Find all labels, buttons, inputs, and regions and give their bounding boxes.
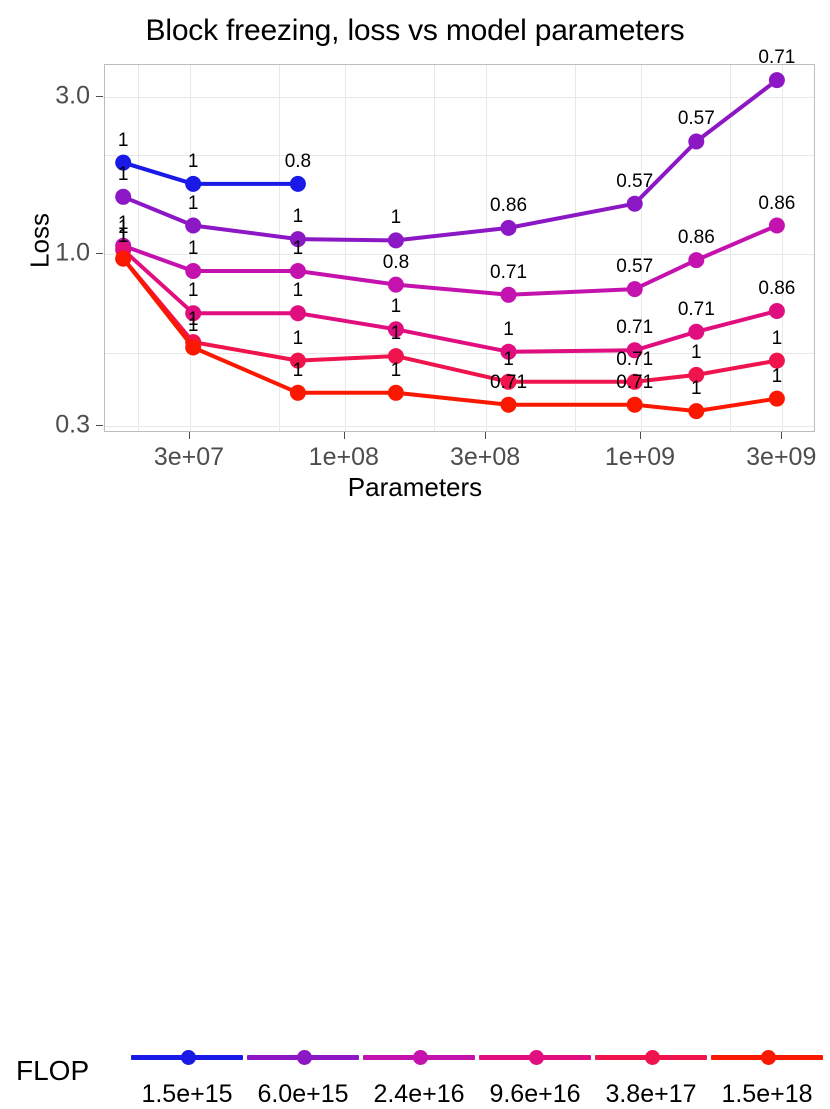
legend-key-1[interactable] — [131, 1046, 243, 1070]
data-point-label: 1 — [503, 349, 514, 371]
legend-point-marker — [529, 1050, 544, 1065]
data-point-label: 0.57 — [616, 171, 653, 193]
y-tick-mark — [96, 96, 103, 97]
data-point-label: 0.71 — [758, 47, 795, 69]
legend-point-marker — [645, 1050, 660, 1065]
data-point-label: 0.86 — [758, 193, 795, 215]
data-point-label: 1 — [391, 296, 402, 318]
y-tick-mark — [96, 253, 103, 254]
x-tick-mark — [781, 432, 782, 439]
gridline-horizontal-minor — [105, 155, 814, 156]
data-point-label: 1 — [691, 378, 702, 400]
data-point-label: 1 — [188, 193, 199, 215]
x-tick-label: 3e+09 — [706, 443, 830, 472]
x-tick-label: 3e+08 — [410, 443, 560, 472]
data-point-label: 0.71 — [490, 372, 527, 394]
gridline-vertical-minor — [730, 65, 731, 431]
legend: FLOP 1.5e+156.0e+152.4e+169.6e+163.8e+17… — [0, 515, 830, 615]
data-point-label: 1 — [118, 130, 129, 152]
x-tick-label: 1e+09 — [565, 443, 715, 472]
x-axis-title: Parameters — [0, 472, 830, 503]
data-point-label: 1 — [691, 342, 702, 364]
data-point-label: 1 — [391, 360, 402, 382]
legend-point-marker — [761, 1050, 776, 1065]
data-point-label: 0.57 — [616, 256, 653, 278]
data-point-label: 0.71 — [616, 372, 653, 394]
legend-key-4[interactable] — [479, 1046, 591, 1070]
gridline-vertical — [486, 65, 487, 431]
gridline-vertical-minor — [138, 65, 139, 431]
data-point-label: 1 — [293, 328, 304, 350]
data-point-label: 1 — [772, 366, 783, 388]
x-tick-mark — [640, 432, 641, 439]
data-point-label: 0.71 — [616, 349, 653, 371]
data-point-label: 0.86 — [678, 227, 715, 249]
legend-key-2[interactable] — [247, 1046, 359, 1070]
data-point-label: 1 — [293, 280, 304, 302]
data-point-label: 1 — [391, 323, 402, 345]
gridline-horizontal — [105, 254, 814, 255]
data-point-label: 1 — [188, 151, 199, 173]
x-tick-label: 3e+07 — [114, 443, 264, 472]
legend-key-5[interactable] — [595, 1046, 707, 1070]
gridline-horizontal-minor — [105, 353, 814, 354]
x-tick-mark — [189, 432, 190, 439]
gridline-vertical — [782, 65, 783, 431]
data-point-label: 1 — [118, 226, 129, 248]
data-point-label: 0.8 — [285, 151, 311, 173]
data-point-label: 1 — [118, 164, 129, 186]
y-tick-mark — [96, 425, 103, 426]
chart-title: Block freezing, loss vs model parameters — [0, 14, 830, 48]
data-point-label: 1 — [293, 238, 304, 260]
data-point-label: 0.57 — [678, 108, 715, 130]
x-tick-label: 1e+08 — [269, 443, 419, 472]
data-point-label: 1 — [772, 328, 783, 350]
data-point-label: 1 — [188, 238, 199, 260]
x-tick-mark — [344, 432, 345, 439]
legend-point-marker — [297, 1050, 312, 1065]
y-tick-label: 0.3 — [6, 410, 90, 439]
legend-key-6[interactable] — [711, 1046, 823, 1070]
gridline-vertical — [345, 65, 346, 431]
data-point-label: 1 — [188, 280, 199, 302]
data-point-label: 1 — [391, 207, 402, 229]
data-point-label: 0.86 — [758, 278, 795, 300]
x-tick-mark — [485, 432, 486, 439]
data-point-label: 0.86 — [490, 195, 527, 217]
data-point-label: 1 — [293, 206, 304, 228]
data-point-label: 0.71 — [490, 262, 527, 284]
y-tick-label: 1.0 — [6, 238, 90, 267]
y-tick-label: 3.0 — [6, 81, 90, 110]
gridline-horizontal — [105, 426, 814, 427]
legend-title: FLOP — [16, 1055, 89, 1087]
legend-point-marker — [413, 1050, 428, 1065]
data-point-label: 1 — [188, 315, 199, 337]
data-point-label: 1 — [503, 319, 514, 341]
data-point-label: 0.8 — [383, 252, 409, 274]
gridline-vertical-minor — [575, 65, 576, 431]
gridline-vertical-minor — [279, 65, 280, 431]
legend-point-marker — [181, 1050, 196, 1065]
data-point-label: 0.71 — [678, 299, 715, 321]
data-point-label: 0.71 — [616, 317, 653, 339]
gridline-horizontal — [105, 97, 814, 98]
legend-label: 1.5e+18 — [697, 1080, 830, 1109]
legend-key-3[interactable] — [363, 1046, 475, 1070]
gridline-vertical-minor — [434, 65, 435, 431]
data-point-label: 1 — [293, 360, 304, 382]
